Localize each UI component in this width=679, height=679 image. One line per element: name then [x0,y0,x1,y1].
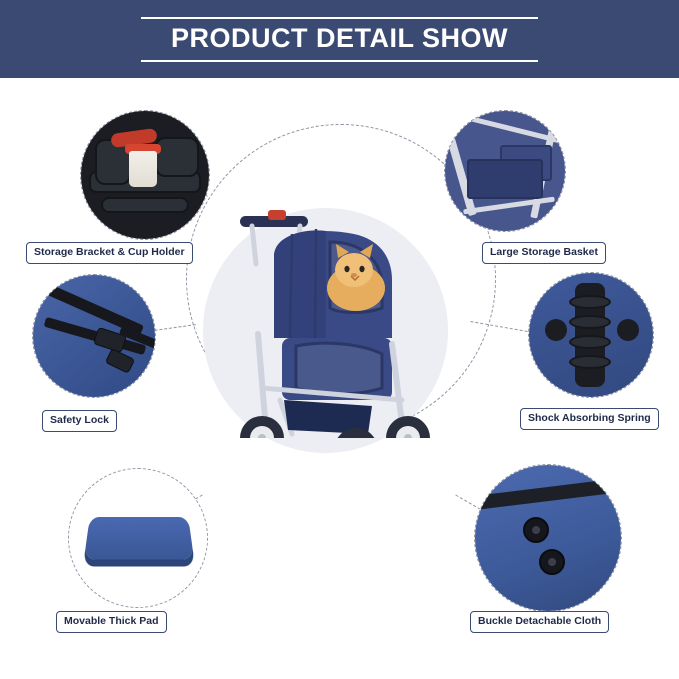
label-shock-absorbing-spring: Shock Absorbing Spring [520,408,659,430]
photo-large-storage-basket [445,111,565,231]
callout-photo-large-storage-basket [444,110,566,232]
label-buckle-detachable-cloth: Buckle Detachable Cloth [470,611,609,633]
label-movable-thick-pad: Movable Thick Pad [56,611,167,633]
header-title-frame: PRODUCT DETAIL SHOW [141,17,538,62]
callout-photo-safety-lock [32,274,156,398]
callout-photo-movable-thick-pad [68,468,208,608]
pet-stroller-illustration [196,138,456,438]
callout-photo-storage-bracket-cup-holder [80,110,210,240]
page-title: PRODUCT DETAIL SHOW [171,23,508,54]
photo-movable-thick-pad [69,469,207,607]
detail-canvas: Storage Bracket & Cup Holder Large Stora… [0,78,679,679]
label-safety-lock: Safety Lock [42,410,117,432]
photo-shock-absorbing-spring [529,273,653,397]
label-storage-bracket-cup-holder: Storage Bracket & Cup Holder [26,242,193,264]
callout-photo-shock-absorbing-spring [528,272,654,398]
photo-buckle-detachable-cloth [475,465,621,611]
callout-photo-buckle-detachable-cloth [474,464,622,612]
photo-safety-lock [33,275,155,397]
photo-storage-bracket [81,111,209,239]
label-large-storage-basket: Large Storage Basket [482,242,606,264]
page-header: PRODUCT DETAIL SHOW [0,0,679,78]
